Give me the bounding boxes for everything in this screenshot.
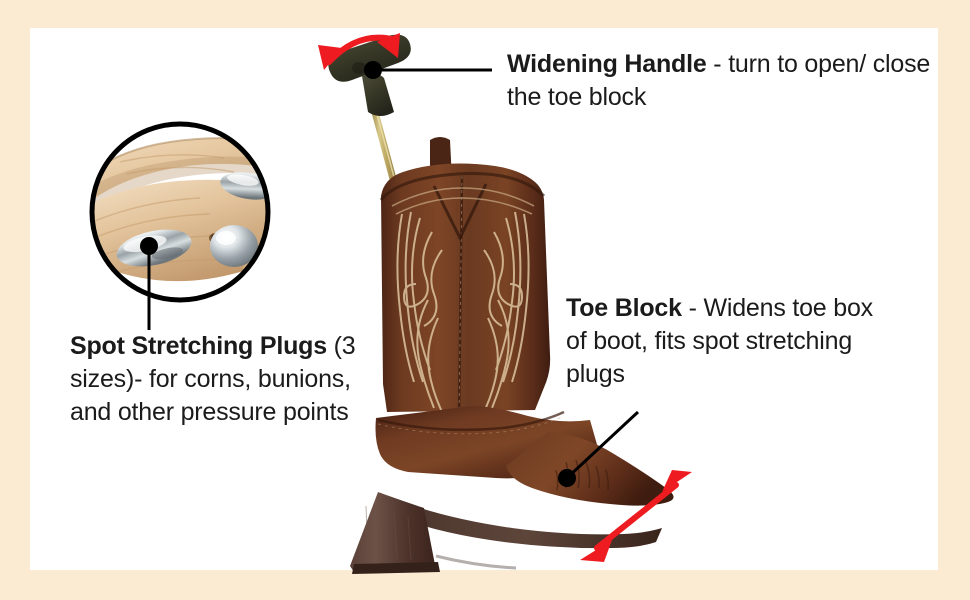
callout-widening-handle-title: Widening Handle [507, 50, 707, 78]
callout-plugs-title: Spot Stretching Plugs [70, 332, 327, 360]
callout-toe-block-title: Toe Block [566, 294, 682, 322]
callout-toe-block: Toe Block - Widens toe box of boot, fits… [566, 292, 886, 391]
callout-toe-block-separator: - [682, 294, 704, 322]
callout-widening-handle-separator: - [707, 50, 729, 78]
infographic-root: Widening Handle - turn to open/ close th… [0, 0, 970, 600]
callout-plugs-separator [327, 332, 334, 360]
callout-widening-handle: Widening Handle - turn to open/ close th… [507, 48, 937, 114]
callout-spot-stretching-plugs: Spot Stretching Plugs (3 sizes)- for cor… [70, 330, 380, 429]
